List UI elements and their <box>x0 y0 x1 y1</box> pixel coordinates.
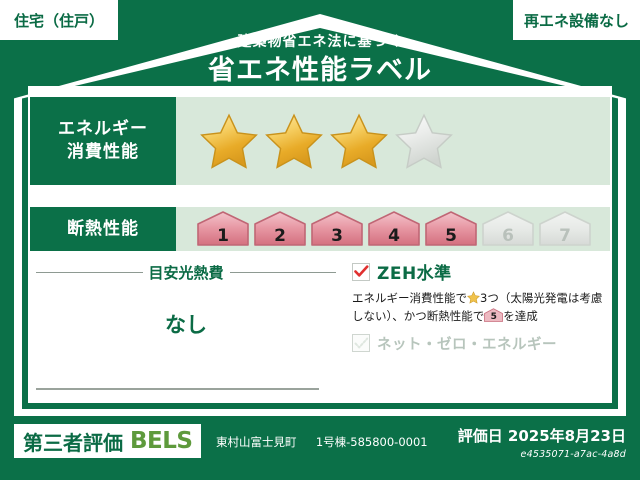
building-number: 1号棟-585800-0001 <box>316 435 428 449</box>
energy-performance-label: エネルギー 消費性能 <box>30 97 176 185</box>
zeh-desc-part2: 3つ（太陽光発電 <box>480 291 568 305</box>
zeh-checkbox[interactable] <box>352 263 370 281</box>
bels-logo-en: BELS <box>130 428 192 454</box>
insulation-level-3: 3 <box>310 210 364 248</box>
insulation-grade-badge-value: 5 <box>484 313 503 322</box>
insulation-performance-body: 1234567 <box>176 207 610 251</box>
star-filled-icon <box>330 112 388 170</box>
zeh-heading: ZEH水準 <box>352 259 610 284</box>
insulation-level-value: 1 <box>196 228 250 245</box>
star-filled-icon <box>265 112 323 170</box>
insulation-grade-badge-icon: 5 <box>484 308 503 322</box>
energy-performance-body <box>176 97 610 185</box>
address-text: 東村山富士見町 <box>216 435 297 449</box>
title-subtitle: 建築物省エネ法に基づく <box>0 34 640 51</box>
star-empty-icon <box>395 112 453 170</box>
evaluation-id: e4535071-a7ac-4a8d <box>458 449 626 460</box>
energy-performance-label-line1: エネルギー <box>58 118 148 141</box>
insulation-level-6: 6 <box>481 210 535 248</box>
zeh-section: ZEH水準 エネルギー消費性能で 3つ（太陽光発電は考慮しない）、かつ断熱性能で… <box>352 259 610 354</box>
label-title: 建築物省エネ法に基づく 省エネ性能ラベル <box>0 34 640 86</box>
insulation-performance-label: 断熱性能 <box>30 207 176 251</box>
utility-cost-heading-text: 目安光熱費 <box>149 262 224 283</box>
insulation-performance-row: 断熱性能 1234567 <box>30 207 610 251</box>
insulation-level-value: 2 <box>253 228 307 245</box>
bels-logo-jp: 第三者評価 <box>23 427 123 456</box>
energy-performance-row: エネルギー 消費性能 <box>30 97 610 185</box>
rule-left <box>36 272 143 273</box>
insulation-level-value: 5 <box>424 228 478 245</box>
net-zero-energy-checkbox[interactable] <box>352 334 370 352</box>
zeh-desc-part1: エネルギー消費性能で <box>352 291 467 305</box>
footer: 第三者評価 BELS 東村山富士見町 1号棟-585800-0001 評価日 2… <box>0 416 640 480</box>
insulation-level-value: 3 <box>310 228 364 245</box>
utility-cost-heading: 目安光熱費 <box>36 262 336 283</box>
insulation-level-value: 7 <box>538 228 592 245</box>
zeh-description: エネルギー消費性能で 3つ（太陽光発電は考慮しない）、かつ断熱性能で 5 を達成 <box>352 290 610 326</box>
insulation-scale: 1234567 <box>176 210 592 248</box>
rule-right <box>230 272 337 273</box>
net-zero-energy-row: ネット・ゼロ・エネルギー <box>352 333 610 354</box>
insulation-level-4: 4 <box>367 210 421 248</box>
utility-cost-value: なし <box>36 309 336 339</box>
star-icon <box>467 291 480 304</box>
zeh-desc-part4: を達成 <box>503 309 538 323</box>
insulation-level-5: 5 <box>424 210 478 248</box>
zeh-title: ZEH水準 <box>377 259 452 284</box>
property-address: 東村山富士見町 1号棟-585800-0001 <box>216 434 428 450</box>
insulation-level-1: 1 <box>196 210 250 248</box>
insulation-level-7: 7 <box>538 210 592 248</box>
energy-performance-label-line2: 消費性能 <box>67 141 139 164</box>
insulation-level-2: 2 <box>253 210 307 248</box>
bels-logo: 第三者評価 BELS <box>14 424 201 458</box>
evaluation-date: 評価日 2025年8月23日 <box>458 425 626 446</box>
bels-label-root: 住宅（住戸） 再エネ設備なし 建築物省エネ法に基づく 省エネ性能ラベル エネルギ… <box>0 0 640 480</box>
title-main: 省エネ性能ラベル <box>0 55 640 86</box>
evaluation-info: 評価日 2025年8月23日 e4535071-a7ac-4a8d <box>458 425 626 460</box>
bottom-divider-rule <box>36 388 319 390</box>
utility-cost-section: 目安光熱費 なし <box>36 262 336 339</box>
star-filled-icon <box>200 112 258 170</box>
star-rating <box>176 112 453 170</box>
net-zero-energy-label: ネット・ゼロ・エネルギー <box>377 333 557 354</box>
insulation-level-value: 6 <box>481 228 535 245</box>
insulation-level-value: 4 <box>367 228 421 245</box>
